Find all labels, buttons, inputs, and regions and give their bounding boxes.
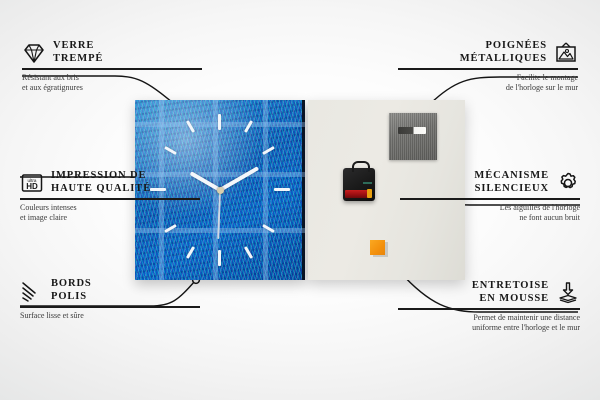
clock-tick [274, 188, 290, 191]
pattern-grid-line [263, 100, 268, 280]
callout-description: Résistant aux briset aux égratignures [22, 73, 202, 93]
mechanism-indicator [363, 182, 372, 184]
polished-edges-icon [20, 279, 44, 303]
callout-header: BORDSPOLIS [20, 278, 200, 303]
gear-icon [556, 171, 580, 195]
battery-terminal [367, 189, 372, 198]
callout-description: Permet de maintenir une distanceuniforme… [398, 313, 580, 333]
clock-tick [186, 246, 195, 259]
callout-header: ENTRETOISEEN MOUSSE [398, 280, 580, 305]
picture-hanging-icon [554, 41, 578, 65]
callout-divider [22, 68, 202, 70]
callout-poignees-metalliques: POIGNÉESMÉTALLIQUES Facilite le montaged… [398, 40, 578, 93]
ultra-hd-icon: ultra HD [20, 171, 44, 195]
callout-title: MÉCANISMESILENCIEUX [474, 170, 549, 195]
callout-verre-trempe: VERRETREMPÉ Résistant aux briset aux égr… [22, 40, 202, 93]
clock-tick [218, 250, 221, 266]
metal-hanger-plate [389, 113, 437, 160]
callout-bords-polis: BORDSPOLIS Surface lisse et sûre [20, 278, 200, 321]
callout-title: BORDSPOLIS [51, 278, 92, 303]
infographic-canvas: VERRETREMPÉ Résistant aux briset aux égr… [0, 0, 600, 400]
clock-minute-hand [219, 166, 259, 191]
callout-title: VERRETREMPÉ [53, 40, 103, 65]
clock-hand-cap [217, 187, 224, 194]
clock-tick [218, 114, 221, 130]
clock-mechanism [343, 168, 375, 201]
callout-title: IMPRESSION DEHAUTE QUALITÉ [51, 170, 151, 195]
foam-spacer-icon [556, 281, 580, 305]
mechanism-hanging-loop [352, 161, 370, 172]
callout-mecanisme-silencieux: MÉCANISMESILENCIEUX Les aiguilles de l'h… [400, 170, 580, 223]
svg-text:HD: HD [26, 182, 38, 191]
clock-tick [244, 246, 253, 259]
callout-description: Les aiguilles de l'horlogene font aucun … [400, 203, 580, 223]
callout-title: ENTRETOISEEN MOUSSE [472, 280, 549, 305]
battery [345, 190, 371, 198]
callout-header: POIGNÉESMÉTALLIQUES [398, 40, 578, 65]
callout-divider [398, 308, 580, 310]
callout-entretoise-en-mousse: ENTRETOISEEN MOUSSE Permet de maintenir … [398, 280, 580, 333]
foam-spacer [370, 240, 385, 255]
callout-divider [398, 68, 578, 70]
callout-divider [20, 306, 200, 308]
callout-description: Couleurs intenseset image claire [20, 203, 200, 223]
callout-description: Surface lisse et sûre [20, 311, 200, 321]
pattern-grid-line [135, 228, 305, 233]
callout-title: POIGNÉESMÉTALLIQUES [460, 40, 547, 65]
callout-divider [20, 198, 200, 200]
callout-header: MÉCANISMESILENCIEUX [400, 170, 580, 195]
callout-header: VERRETREMPÉ [22, 40, 202, 65]
callout-impression-haute-qualite: ultra HD IMPRESSION DEHAUTE QUALITÉ Coul… [20, 170, 200, 223]
diamond-icon [22, 41, 46, 65]
clock-tick [164, 146, 177, 155]
callout-header: ultra HD IMPRESSION DEHAUTE QUALITÉ [20, 170, 200, 195]
hanger-keyhole-slot [398, 127, 426, 134]
callout-description: Facilite le montagede l'horloge sur le m… [398, 73, 578, 93]
callout-divider [400, 198, 580, 200]
